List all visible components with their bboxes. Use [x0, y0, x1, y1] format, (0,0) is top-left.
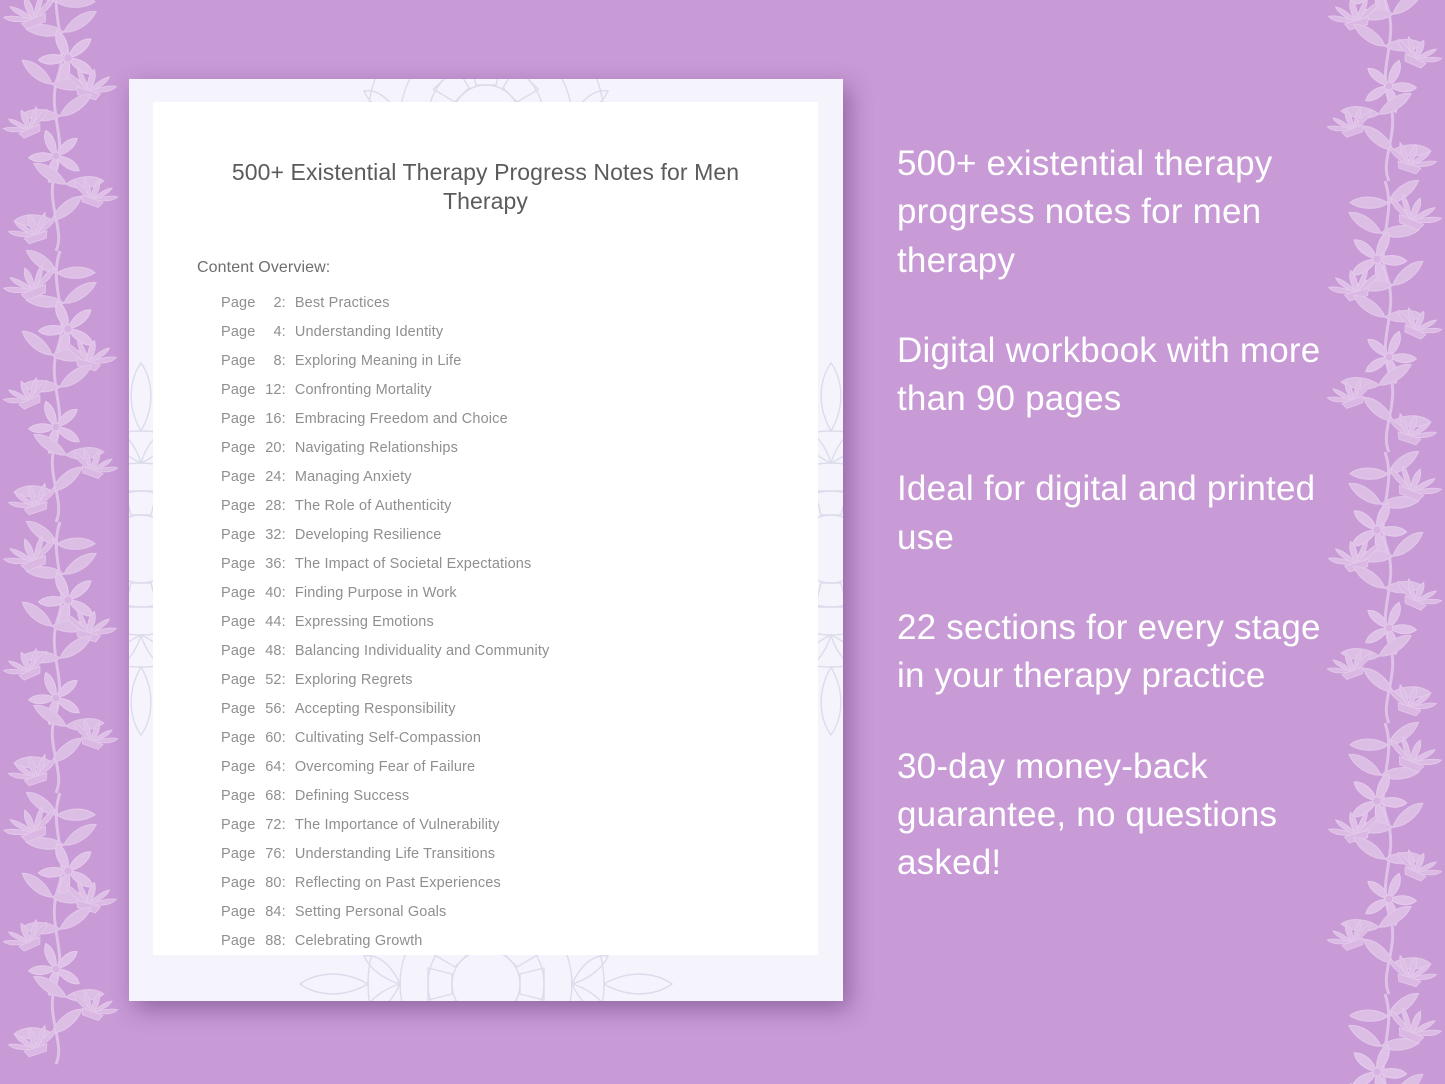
- toc-page-number: 32: [260, 527, 282, 543]
- toc-page-number: 20: [260, 440, 282, 456]
- toc-page-word: Page: [221, 440, 260, 456]
- toc-separator: :: [282, 788, 286, 804]
- toc-page-word: Page: [221, 672, 260, 688]
- toc-entry: Page 12:Confronting Mortality: [221, 382, 818, 411]
- toc-page-number: 44: [260, 614, 282, 630]
- toc-page-word: Page: [221, 875, 260, 891]
- toc-separator: :: [282, 585, 286, 601]
- toc-page-word: Page: [221, 295, 260, 311]
- toc-entry: Page 60:Cultivating Self-Compassion: [221, 730, 818, 759]
- toc-entry-title: Celebrating Growth: [295, 933, 423, 949]
- toc-page-number: 36: [260, 556, 282, 572]
- toc-separator: :: [282, 672, 286, 688]
- toc-page-number: 40: [260, 585, 282, 601]
- toc-page-word: Page: [221, 904, 260, 920]
- toc-separator: :: [282, 933, 286, 949]
- toc-entry: Page 44:Expressing Emotions: [221, 614, 818, 643]
- toc-page-number: 16: [260, 411, 282, 427]
- toc-entry: Page 24:Managing Anxiety: [221, 469, 818, 498]
- toc-page-number: 60: [260, 730, 282, 746]
- toc-page-number: 24: [260, 469, 282, 485]
- toc-page-word: Page: [221, 846, 260, 862]
- toc-separator: :: [282, 411, 286, 427]
- toc-entry: Page 52:Exploring Regrets: [221, 672, 818, 701]
- marketing-bullet: Digital workbook with more than 90 pages: [897, 327, 1352, 424]
- toc-entry: Page 36:The Impact of Societal Expectati…: [221, 556, 818, 585]
- toc-page-number: 88: [260, 933, 282, 949]
- marketing-bullet: 500+ existential therapy progress notes …: [897, 140, 1352, 285]
- toc-entry: Page 76:Understanding Life Transitions: [221, 846, 818, 875]
- toc-entry-title: Understanding Identity: [295, 324, 443, 340]
- toc-page-word: Page: [221, 585, 260, 601]
- toc-entry: Page 2:Best Practices: [221, 295, 818, 324]
- toc-entry: Page 28:The Role of Authenticity: [221, 498, 818, 527]
- toc-separator: :: [282, 353, 286, 369]
- toc-entry: Page 68:Defining Success: [221, 788, 818, 817]
- toc-separator: :: [282, 904, 286, 920]
- toc-entry-title: Managing Anxiety: [295, 469, 412, 485]
- toc-separator: :: [282, 759, 286, 775]
- toc-separator: :: [282, 498, 286, 514]
- toc-page-word: Page: [221, 788, 260, 804]
- toc-page-word: Page: [221, 614, 260, 630]
- toc-entry: Page 72:The Importance of Vulnerability: [221, 817, 818, 846]
- toc-entry: Page 16:Embracing Freedom and Choice: [221, 411, 818, 440]
- toc-separator: :: [282, 295, 286, 311]
- toc-page-word: Page: [221, 643, 260, 659]
- toc-page-number: 80: [260, 875, 282, 891]
- toc-separator: :: [282, 846, 286, 862]
- marketing-bullet-list: 500+ existential therapy progress notes …: [897, 140, 1352, 888]
- toc-page-word: Page: [221, 730, 260, 746]
- toc-page-number: 76: [260, 846, 282, 862]
- toc-page-number: 8: [260, 353, 282, 369]
- content-overview-label: Content Overview:: [197, 259, 818, 277]
- marketing-bullet: 22 sections for every stage in your ther…: [897, 604, 1352, 701]
- toc-entry-title: Expressing Emotions: [295, 614, 434, 630]
- toc-separator: :: [282, 643, 286, 659]
- toc-page-number: 64: [260, 759, 282, 775]
- toc-entry: Page 48:Balancing Individuality and Comm…: [221, 643, 818, 672]
- toc-page-number: 48: [260, 643, 282, 659]
- toc-entry-title: Embracing Freedom and Choice: [295, 411, 508, 427]
- toc-page-number: 84: [260, 904, 282, 920]
- page-title: 500+ Existential Therapy Progress Notes …: [205, 158, 766, 217]
- toc-entry: Page 64:Overcoming Fear of Failure: [221, 759, 818, 788]
- toc-separator: :: [282, 469, 286, 485]
- toc-entry-title: Best Practices: [295, 295, 390, 311]
- toc-separator: :: [282, 527, 286, 543]
- toc-page-number: 56: [260, 701, 282, 717]
- toc-entry-title: The Impact of Societal Expectations: [295, 556, 532, 572]
- toc-separator: :: [282, 730, 286, 746]
- toc-page-word: Page: [221, 556, 260, 572]
- toc-separator: :: [282, 614, 286, 630]
- toc-entry: Page 80:Reflecting on Past Experiences: [221, 875, 818, 904]
- toc-page-word: Page: [221, 527, 260, 543]
- toc-separator: :: [282, 324, 286, 340]
- toc-page-word: Page: [221, 382, 260, 398]
- toc-page-number: 4: [260, 324, 282, 340]
- toc-entry-title: Balancing Individuality and Community: [295, 643, 550, 659]
- toc-page-number: 72: [260, 817, 282, 833]
- toc-page-word: Page: [221, 817, 260, 833]
- toc-entry-title: Accepting Responsibility: [295, 701, 456, 717]
- toc-page-word: Page: [221, 411, 260, 427]
- toc-page-word: Page: [221, 701, 260, 717]
- toc-entry-title: Confronting Mortality: [295, 382, 432, 398]
- toc-entry: Page 32:Developing Resilience: [221, 527, 818, 556]
- toc-entry-title: Exploring Meaning in Life: [295, 353, 462, 369]
- toc-entry-title: Cultivating Self-Compassion: [295, 730, 481, 746]
- toc-entry-title: Setting Personal Goals: [295, 904, 447, 920]
- marketing-bullet: 30-day money-back guarantee, no question…: [897, 743, 1352, 888]
- toc-page-word: Page: [221, 469, 260, 485]
- document-page: 500+ Existential Therapy Progress Notes …: [153, 102, 818, 955]
- toc-separator: :: [282, 817, 286, 833]
- toc-page-number: 52: [260, 672, 282, 688]
- toc-entry-title: Navigating Relationships: [295, 440, 458, 456]
- toc-entry-title: The Role of Authenticity: [295, 498, 452, 514]
- toc-entry: Page 56:Accepting Responsibility: [221, 701, 818, 730]
- toc-entry-title: Finding Purpose in Work: [295, 585, 457, 601]
- toc-separator: :: [282, 440, 286, 456]
- toc-entry: Page 8:Exploring Meaning in Life: [221, 353, 818, 382]
- toc-page-word: Page: [221, 324, 260, 340]
- toc-entry-title: Defining Success: [295, 788, 409, 804]
- toc-entry-title: Understanding Life Transitions: [295, 846, 495, 862]
- toc-entry: Page 4:Understanding Identity: [221, 324, 818, 353]
- toc-separator: :: [282, 556, 286, 572]
- toc-entry: Page 40:Finding Purpose in Work: [221, 585, 818, 614]
- toc-entry: Page 20:Navigating Relationships: [221, 440, 818, 469]
- toc-entry-title: Overcoming Fear of Failure: [295, 759, 475, 775]
- toc-page-number: 2: [260, 295, 282, 311]
- toc-entry-title: Exploring Regrets: [295, 672, 413, 688]
- marketing-bullet: Ideal for digital and printed use: [897, 465, 1352, 562]
- toc-entry-title: Developing Resilience: [295, 527, 442, 543]
- toc-separator: :: [282, 701, 286, 717]
- floral-vine-border-icon: [0, 0, 130, 1084]
- toc-separator: :: [282, 382, 286, 398]
- toc-page-word: Page: [221, 933, 260, 949]
- toc-entry: Page 84:Setting Personal Goals: [221, 904, 818, 933]
- toc-page-word: Page: [221, 353, 260, 369]
- toc-page-number: 28: [260, 498, 282, 514]
- toc-page-word: Page: [221, 759, 260, 775]
- toc-page-number: 68: [260, 788, 282, 804]
- toc-separator: :: [282, 875, 286, 891]
- document-card: 500+ Existential Therapy Progress Notes …: [129, 79, 843, 1001]
- toc-entry-title: The Importance of Vulnerability: [295, 817, 500, 833]
- toc-page-word: Page: [221, 498, 260, 514]
- toc-page-number: 12: [260, 382, 282, 398]
- table-of-contents: Page 2:Best PracticesPage 4:Understandin…: [221, 295, 818, 955]
- toc-entry-title: Reflecting on Past Experiences: [295, 875, 501, 891]
- toc-entry: Page 88:Celebrating Growth: [221, 933, 818, 955]
